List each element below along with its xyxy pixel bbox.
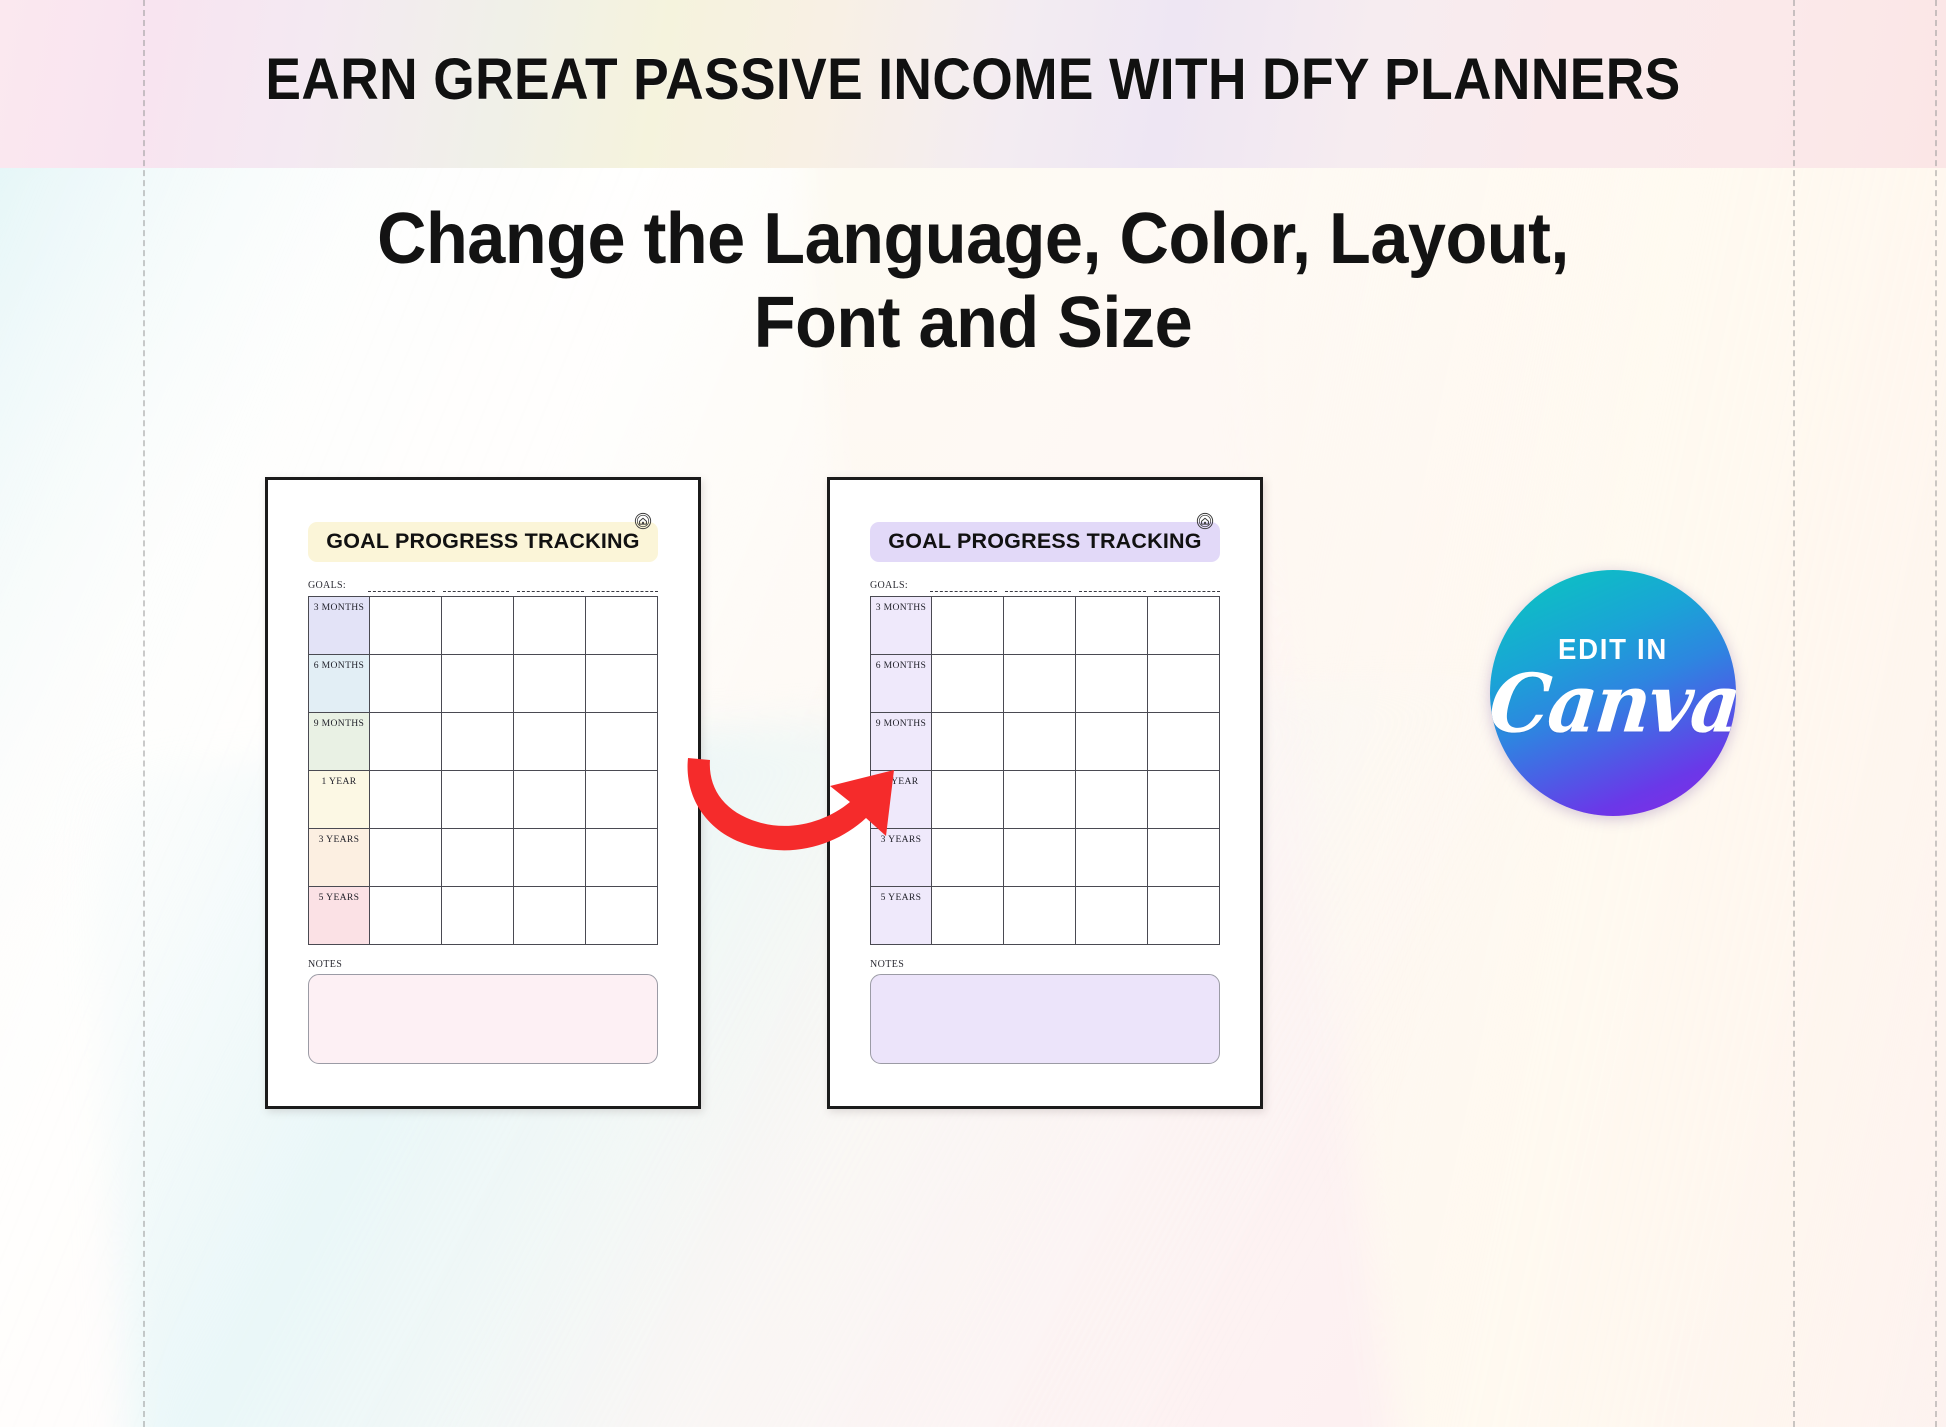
table-cell[interactable] [932, 887, 1004, 944]
table-row: 3 YEARS [309, 829, 658, 887]
table-cell[interactable] [1076, 597, 1148, 654]
table-row: 9 MONTHS [871, 713, 1220, 771]
planner-right-content: GOAL PROGRESS TRACKING GOALS: 3 MONTHS6 … [870, 508, 1220, 1080]
table-cell[interactable] [1004, 829, 1076, 886]
table-cell[interactable] [932, 771, 1004, 828]
goal-blank-line[interactable] [930, 581, 997, 592]
goals-blank-lines[interactable] [930, 581, 1220, 592]
table-cell[interactable] [370, 597, 442, 654]
table-row: 1 YEAR [871, 771, 1220, 829]
table-row: 5 YEARS [871, 887, 1220, 945]
table-cell[interactable] [932, 829, 1004, 886]
table-cell[interactable] [1076, 655, 1148, 712]
table-cell[interactable] [370, 771, 442, 828]
table-cell[interactable] [586, 771, 658, 828]
table-cell[interactable] [1076, 887, 1148, 944]
planner-right-grid[interactable]: 3 MONTHS6 MONTHS9 MONTHS1 YEAR3 YEARS5 Y… [870, 596, 1220, 945]
table-cell[interactable] [586, 887, 658, 944]
planner-right-title: GOAL PROGRESS TRACKING [870, 522, 1220, 562]
table-row: 3 MONTHS [871, 597, 1220, 655]
table-cell[interactable] [1004, 597, 1076, 654]
table-cell[interactable] [1004, 655, 1076, 712]
goal-blank-line[interactable] [517, 581, 584, 592]
goal-blank-line[interactable] [368, 581, 435, 592]
goal-blank-line[interactable] [1005, 581, 1072, 592]
header-banner: EARN GREAT PASSIVE INCOME WITH DFY PLANN… [0, 0, 1946, 168]
table-cell[interactable] [932, 597, 1004, 654]
row-label-5-years: 5 YEARS [871, 887, 932, 944]
table-cell[interactable] [1004, 771, 1076, 828]
table-cell[interactable] [932, 713, 1004, 770]
table-row: 5 YEARS [309, 887, 658, 945]
row-label-3-years: 3 YEARS [309, 829, 370, 886]
table-cell[interactable] [514, 597, 586, 654]
goal-blank-line[interactable] [1154, 581, 1221, 592]
table-cell[interactable] [442, 771, 514, 828]
notes-label: NOTES [308, 959, 658, 970]
goal-blank-line[interactable] [1079, 581, 1146, 592]
table-cell[interactable] [514, 887, 586, 944]
goals-label: GOALS: [308, 580, 368, 592]
table-cell[interactable] [586, 829, 658, 886]
table-cell[interactable] [586, 713, 658, 770]
subtitle-line-1: Change the Language, Color, Layout, [49, 198, 1898, 282]
home-icon [1196, 512, 1214, 530]
table-row: 3 YEARS [871, 829, 1220, 887]
table-cell[interactable] [1148, 887, 1220, 944]
row-label-6-months: 6 MONTHS [871, 655, 932, 712]
row-label-3-months: 3 MONTHS [871, 597, 932, 654]
table-cell[interactable] [370, 655, 442, 712]
planner-page-right[interactable]: GOAL PROGRESS TRACKING GOALS: 3 MONTHS6 … [827, 477, 1263, 1109]
home-icon [634, 512, 652, 530]
row-label-9-months: 9 MONTHS [309, 713, 370, 770]
planner-left-content: GOAL PROGRESS TRACKING GOALS: 3 MONTHS6 … [308, 508, 658, 1080]
table-cell[interactable] [586, 655, 658, 712]
table-cell[interactable] [442, 655, 514, 712]
table-cell[interactable] [1004, 887, 1076, 944]
notes-box[interactable] [870, 974, 1220, 1064]
table-cell[interactable] [1148, 771, 1220, 828]
table-cell[interactable] [442, 887, 514, 944]
table-cell[interactable] [1148, 713, 1220, 770]
row-label-9-months: 9 MONTHS [871, 713, 932, 770]
table-cell[interactable] [370, 713, 442, 770]
table-cell[interactable] [514, 829, 586, 886]
header-title: EARN GREAT PASSIVE INCOME WITH DFY PLANN… [78, 46, 1868, 113]
goals-label: GOALS: [870, 580, 930, 592]
table-cell[interactable] [442, 713, 514, 770]
notes-box[interactable] [308, 974, 658, 1064]
header-guide-line-far-right [1935, 0, 1937, 168]
table-row: 9 MONTHS [309, 713, 658, 771]
table-cell[interactable] [514, 771, 586, 828]
planner-page-left[interactable]: GOAL PROGRESS TRACKING GOALS: 3 MONTHS6 … [265, 477, 701, 1109]
table-cell[interactable] [932, 655, 1004, 712]
table-row: 1 YEAR [309, 771, 658, 829]
table-cell[interactable] [1076, 771, 1148, 828]
goal-blank-line[interactable] [592, 581, 659, 592]
row-label-1-year: 1 YEAR [871, 771, 932, 828]
table-cell[interactable] [442, 597, 514, 654]
table-cell[interactable] [514, 655, 586, 712]
table-cell[interactable] [586, 597, 658, 654]
table-row: 6 MONTHS [309, 655, 658, 713]
table-cell[interactable] [442, 829, 514, 886]
goals-blank-lines[interactable] [368, 581, 658, 592]
table-cell[interactable] [1148, 829, 1220, 886]
goal-blank-line[interactable] [443, 581, 510, 592]
planner-left-title: GOAL PROGRESS TRACKING [308, 522, 658, 562]
table-cell[interactable] [1148, 597, 1220, 654]
planner-left-goals-row: GOALS: [308, 580, 658, 592]
planner-right-goals-row: GOALS: [870, 580, 1220, 592]
table-cell[interactable] [1076, 713, 1148, 770]
table-row: 6 MONTHS [871, 655, 1220, 713]
planner-left-grid[interactable]: 3 MONTHS6 MONTHS9 MONTHS1 YEAR3 YEARS5 Y… [308, 596, 658, 945]
table-cell[interactable] [370, 887, 442, 944]
table-cell[interactable] [514, 713, 586, 770]
table-cell[interactable] [370, 829, 442, 886]
row-label-1-year: 1 YEAR [309, 771, 370, 828]
canva-wordmark: Canva [1490, 664, 1736, 745]
table-cell[interactable] [1148, 655, 1220, 712]
row-label-3-months: 3 MONTHS [309, 597, 370, 654]
notes-label: NOTES [870, 959, 1220, 970]
edit-in-canva-badge[interactable]: EDIT IN Canva [1490, 570, 1736, 816]
subtitle-block: Change the Language, Color, Layout, Font… [49, 198, 1898, 365]
table-cell[interactable] [1004, 713, 1076, 770]
guide-line-far-right [1935, 0, 1937, 1427]
row-label-6-months: 6 MONTHS [309, 655, 370, 712]
table-row: 3 MONTHS [309, 597, 658, 655]
subtitle-line-2: Font and Size [49, 282, 1898, 366]
row-label-3-years: 3 YEARS [871, 829, 932, 886]
table-cell[interactable] [1076, 829, 1148, 886]
row-label-5-years: 5 YEARS [309, 887, 370, 944]
